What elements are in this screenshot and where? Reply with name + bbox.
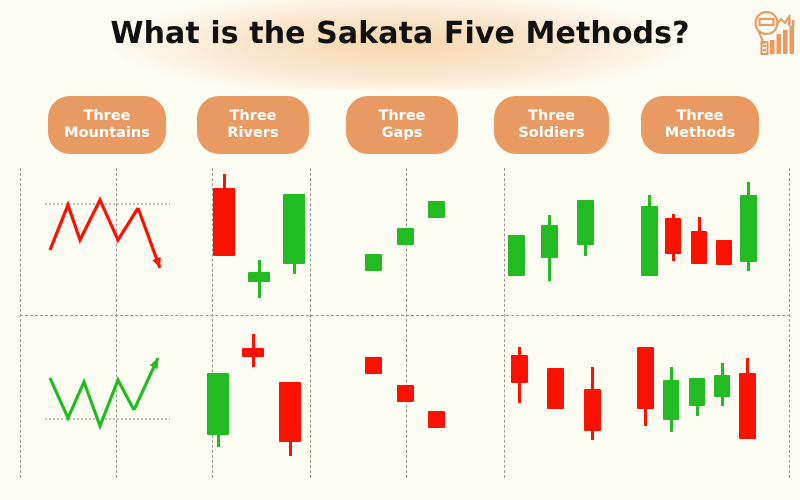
pill-three-methods[interactable]: ThreeMethods bbox=[641, 96, 759, 154]
candle-lower-wick bbox=[293, 264, 296, 274]
candle-body-up bbox=[663, 380, 679, 420]
trend-arrow-head bbox=[152, 257, 160, 268]
candle-upper-wick bbox=[252, 334, 255, 348]
pattern-three-rivers-line bbox=[45, 358, 170, 426]
candle-lower-wick bbox=[696, 406, 699, 416]
candle-upper-wick bbox=[648, 195, 651, 206]
grid-vline-3 bbox=[310, 168, 311, 478]
trend-arrow-head bbox=[150, 358, 158, 369]
candle-lower-wick bbox=[289, 442, 292, 456]
candle-lower-wick bbox=[670, 420, 673, 432]
pill-label-line1: Three bbox=[528, 108, 575, 124]
candle-body-down bbox=[665, 218, 681, 254]
candle-body-up bbox=[740, 195, 757, 262]
candle-body-up bbox=[508, 235, 525, 276]
candle-lower-wick bbox=[721, 397, 724, 406]
candle-upper-wick bbox=[698, 217, 701, 231]
candle-body-down bbox=[511, 355, 528, 383]
candle-body-down bbox=[547, 368, 564, 409]
grid-vline-6 bbox=[789, 168, 790, 478]
candle-lower-wick bbox=[591, 431, 594, 440]
candle-body-down bbox=[242, 348, 264, 357]
pill-three-soldiers[interactable]: ThreeSoldiers bbox=[494, 96, 609, 154]
candle-lower-wick bbox=[518, 383, 521, 403]
page-title: What is the Sakata Five Methods? bbox=[0, 16, 800, 51]
pill-label-line1: Three bbox=[676, 108, 723, 124]
candle-lower-wick bbox=[258, 282, 261, 298]
candle-body-up bbox=[641, 206, 658, 276]
candle-lower-wick bbox=[252, 357, 255, 367]
candle-body-up bbox=[207, 373, 229, 435]
gap-candle-body bbox=[428, 201, 445, 218]
grid-vline-4 bbox=[406, 168, 407, 478]
pill-label-line2: Gaps bbox=[382, 125, 423, 141]
gap-candle-body bbox=[365, 254, 382, 271]
candle-upper-wick bbox=[548, 215, 551, 225]
candle-lower-wick bbox=[672, 254, 675, 261]
candle-lower-wick bbox=[548, 258, 551, 281]
pill-label-line2: Mountains bbox=[64, 125, 150, 141]
pattern-three-mountains bbox=[45, 200, 170, 268]
trend-arrow-shaft bbox=[138, 208, 160, 268]
grid-vline-0 bbox=[20, 168, 21, 478]
candle-upper-wick bbox=[258, 260, 261, 272]
candle-body-down bbox=[716, 240, 732, 265]
pill-three-mountains[interactable]: ThreeMountains bbox=[48, 96, 166, 154]
candle-upper-wick bbox=[223, 174, 226, 188]
candle-body-up bbox=[283, 194, 305, 264]
grid-hline bbox=[20, 315, 790, 316]
pill-label-line2: Rivers bbox=[227, 125, 278, 141]
zigzag-line bbox=[50, 378, 134, 426]
candle-body-down bbox=[213, 188, 235, 256]
trend-arrow-shaft bbox=[134, 358, 158, 410]
candle-body-down bbox=[584, 389, 601, 431]
candle-upper-wick bbox=[670, 367, 673, 380]
candle-body-up bbox=[577, 200, 594, 245]
gap-candle-body bbox=[428, 411, 445, 428]
grid-vline-5 bbox=[504, 168, 505, 478]
candle-body-up bbox=[541, 225, 558, 258]
candle-body-up bbox=[248, 272, 270, 282]
zigzag-line bbox=[50, 200, 138, 250]
candle-upper-wick bbox=[591, 367, 594, 389]
pill-three-rivers[interactable]: ThreeRivers bbox=[197, 96, 309, 154]
candle-lower-wick bbox=[584, 245, 587, 256]
gap-candle-body bbox=[365, 357, 382, 374]
candle-body-down bbox=[739, 373, 756, 439]
pill-label-line1: Three bbox=[83, 108, 130, 124]
candle-lower-wick bbox=[217, 435, 220, 447]
gap-candle-body bbox=[397, 228, 414, 245]
candle-body-up bbox=[689, 378, 705, 406]
pill-three-gaps[interactable]: ThreeGaps bbox=[346, 96, 458, 154]
candle-body-down bbox=[637, 347, 654, 409]
candle-lower-wick bbox=[747, 262, 750, 271]
candle-upper-wick bbox=[747, 182, 750, 195]
candle-body-down bbox=[279, 382, 301, 442]
pill-label-line2: Soldiers bbox=[518, 125, 584, 141]
candle-upper-wick bbox=[746, 358, 749, 373]
pill-label-line1: Three bbox=[378, 108, 425, 124]
infographic-canvas: What is the Sakata Five Methods? bbox=[0, 0, 800, 500]
candle-body-down bbox=[691, 231, 707, 264]
candle-upper-wick bbox=[518, 347, 521, 355]
gap-candle-body bbox=[397, 385, 414, 402]
candle-upper-wick bbox=[721, 363, 724, 375]
grid-vline-1 bbox=[116, 168, 117, 478]
candle-body-up bbox=[714, 375, 730, 397]
pill-label-line1: Three bbox=[229, 108, 276, 124]
pill-label-line2: Methods bbox=[665, 125, 736, 141]
candle-lower-wick bbox=[644, 409, 647, 426]
magnifier-bar-chart-icon bbox=[752, 8, 796, 60]
